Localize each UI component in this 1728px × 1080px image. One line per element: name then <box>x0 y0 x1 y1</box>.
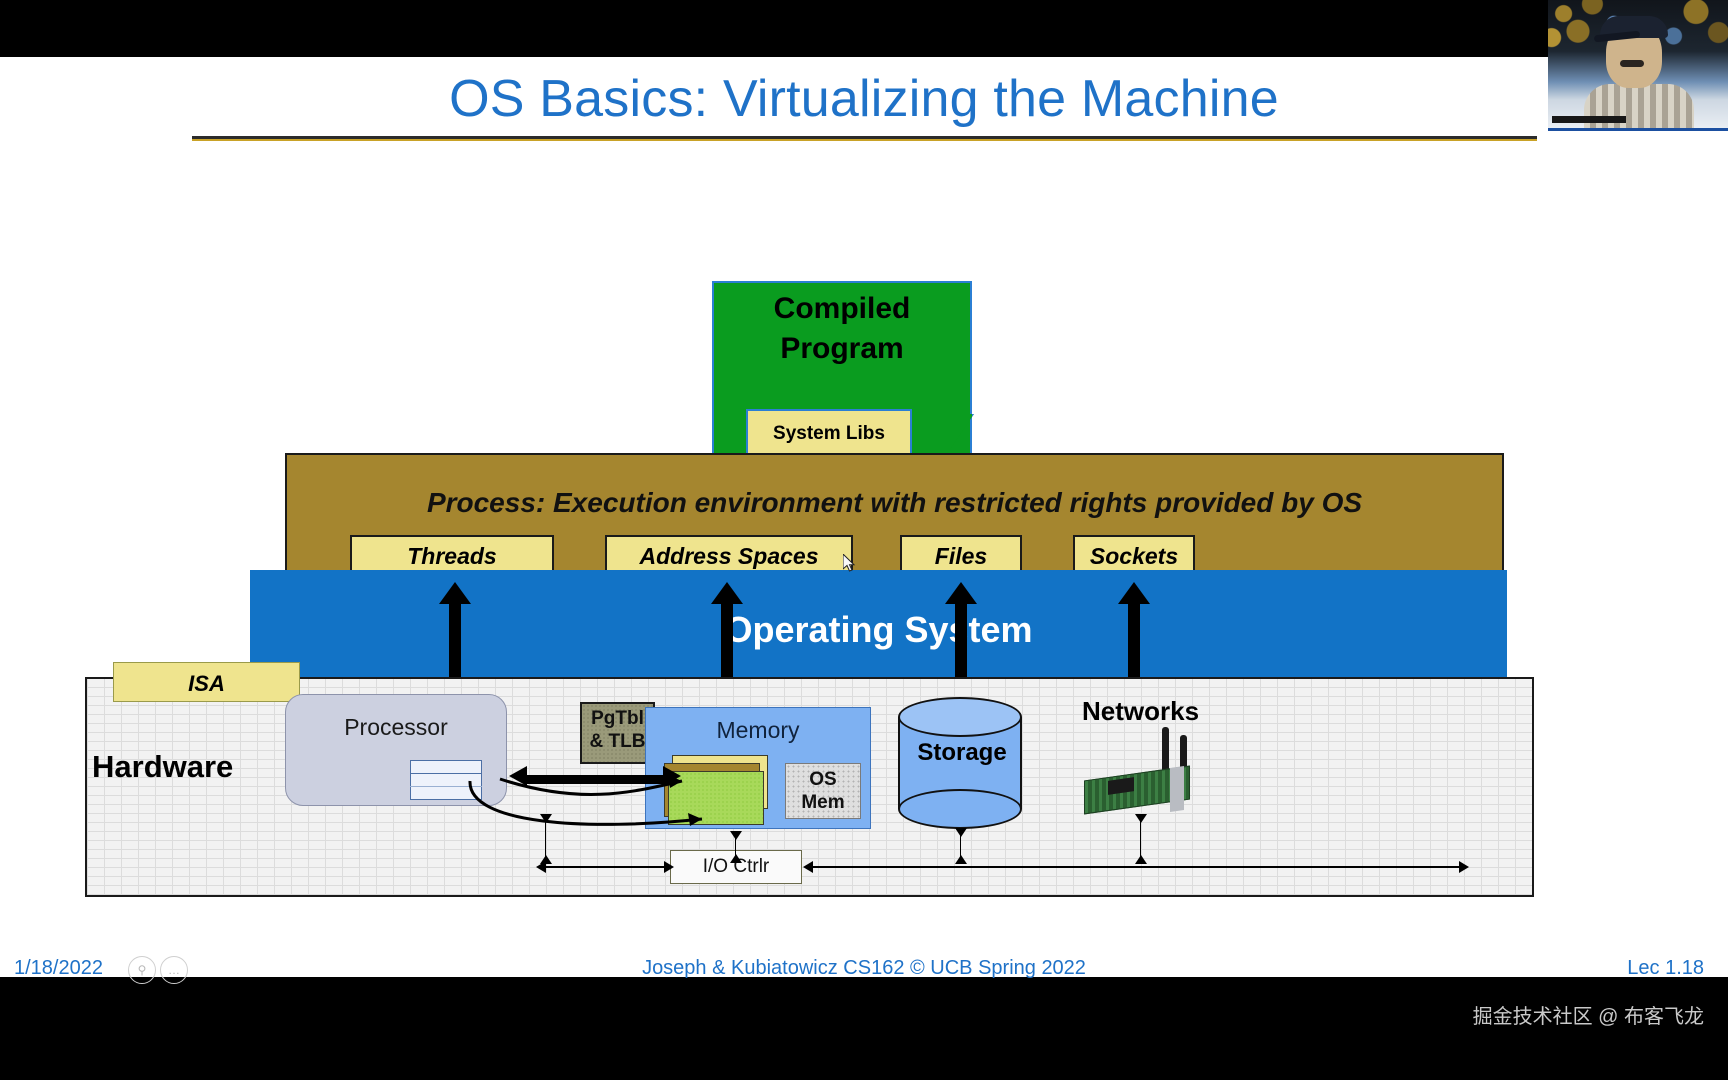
slide-canvas: OS Basics: Virtualizing the Machine Comp… <box>0 57 1728 977</box>
memory-label: Memory <box>645 717 871 744</box>
io-drop-storage <box>960 829 961 863</box>
storage-cylinder-bottom <box>898 789 1022 829</box>
compiled-program-line2: Program <box>780 332 903 365</box>
compiled-program-line1: Compiled <box>774 292 911 325</box>
hardware-label: Hardware <box>92 749 233 785</box>
io-bus-left <box>545 866 665 868</box>
page-title: OS Basics: Virtualizing the Machine <box>0 69 1728 129</box>
network-card-icon <box>1078 749 1200 811</box>
system-libs-label: System Libs <box>746 423 912 445</box>
compiled-program-label: Compiled Program <box>712 289 972 369</box>
video-call-stage: OS Basics: Virtualizing the Machine Comp… <box>0 0 1728 1080</box>
process-bar-label: Process: Execution environment with rest… <box>285 487 1504 519</box>
io-bus-right <box>812 866 1460 868</box>
footer-attribution: Joseph & Kubiatowicz CS162 © UCB Spring … <box>0 957 1728 980</box>
watermark: 掘金技术社区 @ 布客飞龙 <box>1473 1000 1704 1029</box>
webcam-thumbnail[interactable] <box>1548 0 1728 131</box>
networks-label: Networks <box>1082 696 1199 727</box>
pgtbl-line1: PgTbl <box>591 708 644 729</box>
nic-bracket <box>1170 766 1184 812</box>
storage-label: Storage <box>898 739 1026 767</box>
isa-label: ISA <box>113 671 300 697</box>
os-memory-line2: Mem <box>801 792 844 813</box>
storage-cylinder-top <box>898 697 1022 737</box>
page-mapping-arrow <box>440 769 740 839</box>
os-memory-line1: OS <box>809 769 836 790</box>
webcam-person-mustache <box>1620 60 1644 67</box>
io-drop-memory <box>735 832 736 862</box>
pgtbl-line2: & TLB <box>590 731 646 752</box>
webcam-name-bar <box>1552 116 1626 123</box>
title-underline <box>192 136 1537 141</box>
os-memory-label: OS Mem <box>785 769 861 815</box>
pgtbl-tlb-label: PgTbl & TLB <box>580 707 655 753</box>
processor-label: Processor <box>285 714 507 741</box>
io-drop-processor <box>545 815 546 863</box>
io-drop-network <box>1140 815 1141 863</box>
operating-system-label: Operating System <box>250 609 1507 651</box>
footer-lecture-number: Lec 1.18 <box>1627 957 1704 980</box>
mouse-cursor <box>843 554 857 574</box>
webcam-person-shirt <box>1584 84 1694 130</box>
